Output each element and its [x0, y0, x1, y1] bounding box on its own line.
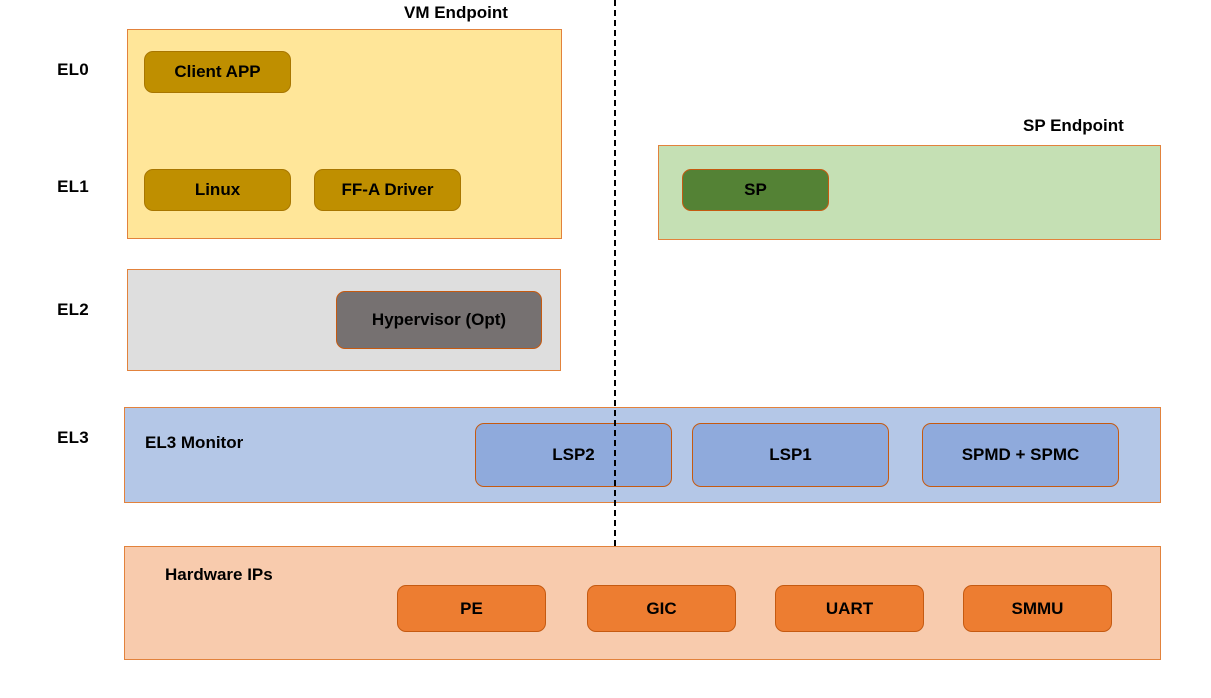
- block-spmd-spmc-label: SPMD + SPMC: [962, 445, 1080, 465]
- el2-band: Hypervisor (Opt): [127, 269, 561, 371]
- block-spmd-spmc[interactable]: SPMD + SPMC: [922, 423, 1119, 487]
- block-hypervisor-label: Hypervisor (Opt): [372, 310, 506, 330]
- block-lsp1[interactable]: LSP1: [692, 423, 889, 487]
- hardware-ips-title: Hardware IPs: [165, 565, 273, 585]
- block-linux[interactable]: Linux: [144, 169, 291, 211]
- sp-endpoint-caption: SP Endpoint: [1023, 116, 1124, 136]
- el3-monitor-title: EL3 Monitor: [145, 433, 243, 453]
- block-hypervisor[interactable]: Hypervisor (Opt): [336, 291, 542, 349]
- block-ffa-driver[interactable]: FF-A Driver: [314, 169, 461, 211]
- block-linux-label: Linux: [195, 180, 240, 200]
- vm-endpoint-caption: VM Endpoint: [404, 3, 508, 23]
- exception-level-label-el2: EL2: [33, 300, 113, 320]
- secure-world-divider: [614, 0, 616, 546]
- block-pe-label: PE: [460, 599, 483, 619]
- exception-level-label-el3: EL3: [33, 428, 113, 448]
- block-smmu-label: SMMU: [1012, 599, 1064, 619]
- hardware-band: Hardware IPs PE GIC UART SMMU: [124, 546, 1161, 660]
- block-sp-label: SP: [744, 180, 767, 200]
- block-lsp1-label: LSP1: [769, 445, 812, 465]
- vm-endpoint-band: Client APP Linux FF-A Driver: [127, 29, 562, 239]
- exception-level-label-el0: EL0: [33, 60, 113, 80]
- block-client-app[interactable]: Client APP: [144, 51, 291, 93]
- block-uart[interactable]: UART: [775, 585, 924, 632]
- sp-endpoint-band: SP: [658, 145, 1161, 240]
- block-uart-label: UART: [826, 599, 873, 619]
- el3-band: EL3 Monitor LSP2 LSP1 SPMD + SPMC: [124, 407, 1161, 503]
- block-pe[interactable]: PE: [397, 585, 546, 632]
- architecture-diagram: EL0 EL1 EL2 EL3 VM Endpoint SP Endpoint …: [0, 0, 1211, 698]
- block-client-app-label: Client APP: [174, 62, 260, 82]
- block-smmu[interactable]: SMMU: [963, 585, 1112, 632]
- block-gic-label: GIC: [646, 599, 676, 619]
- block-sp[interactable]: SP: [682, 169, 829, 211]
- block-lsp2-label: LSP2: [552, 445, 595, 465]
- exception-level-label-el1: EL1: [33, 177, 113, 197]
- block-lsp2[interactable]: LSP2: [475, 423, 672, 487]
- block-gic[interactable]: GIC: [587, 585, 736, 632]
- block-ffa-driver-label: FF-A Driver: [342, 180, 434, 200]
